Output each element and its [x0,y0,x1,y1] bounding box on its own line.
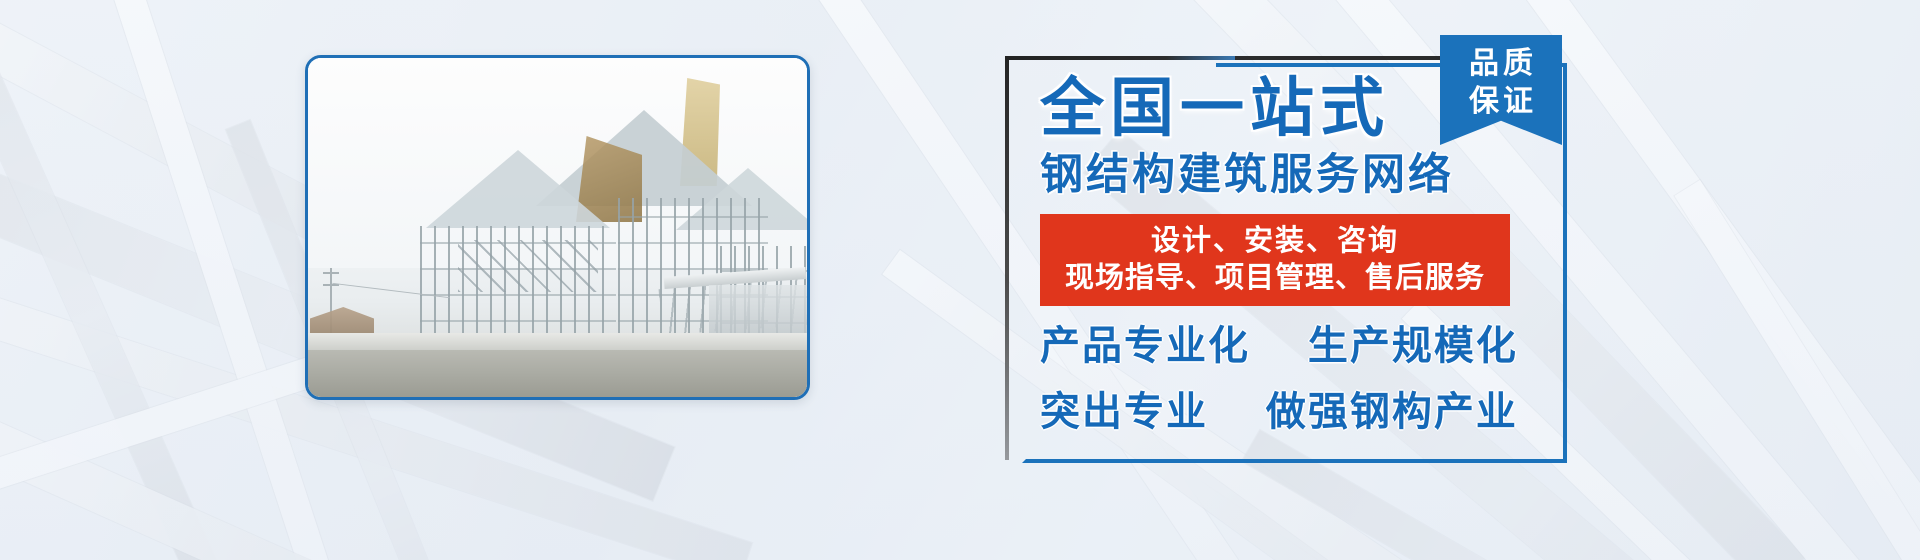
slogan-row-2: 突出专业 做强钢构产业 [1040,386,1540,438]
photo-bracing [458,240,598,292]
photo-ground [308,350,807,397]
subheadline: 钢结构建筑服务网络 [1040,148,1540,202]
services-callout: 设计、安装、咨询 现场指导、项目管理、售后服务 [1040,214,1510,306]
badge-line-2: 保证 [1465,83,1537,121]
slogan-2-right: 做强钢构产业 [1266,389,1518,435]
photo-roof-left [426,150,610,228]
hero-photo [308,58,807,397]
frame-dark-top-edge [1005,56,1235,60]
hero-photo-card [305,55,810,400]
slogan-1-right: 生产规模化 [1308,323,1518,369]
services-line-2: 现场指导、项目管理、售后服务 [1046,259,1504,296]
badge-line-1: 品质 [1465,45,1537,83]
services-line-1: 设计、安装、咨询 [1046,222,1504,259]
frame-blue-right-edge [1563,63,1567,463]
frame-dark-left-edge [1005,60,1009,460]
promo-banner: 品质 保证 全国一站式 钢结构建筑服务网络 设计、安装、咨询 现场指导、项目管理… [0,0,1920,560]
background-overlay [0,0,1920,560]
slogan-1-left: 产品专业化 [1040,323,1250,369]
slogan-row-1: 产品专业化 生产规模化 [1040,320,1540,372]
slogan-2-left: 突出专业 [1040,389,1208,435]
